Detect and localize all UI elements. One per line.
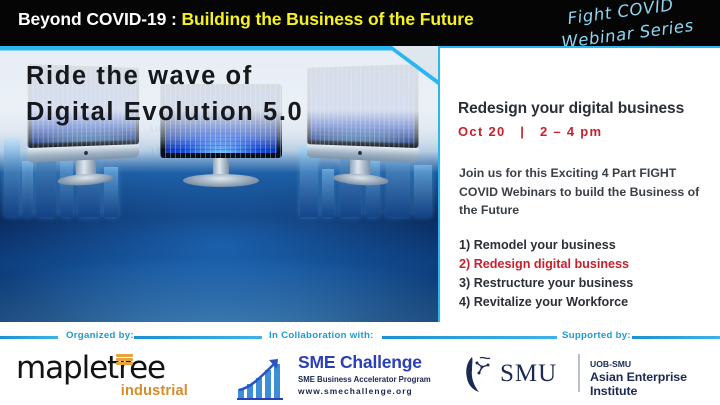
- divider-line: [134, 336, 262, 339]
- banner-title-white: Beyond COVID-19 :: [18, 9, 182, 29]
- smu-institute-block: UOB-SMU Asian Enterprise Institute: [590, 359, 710, 398]
- session-item-3: 3) Restructure your business: [459, 274, 714, 293]
- label-organized-by: Organized by:: [66, 330, 134, 341]
- headline-line-1: Ride the wave of: [26, 58, 426, 94]
- hero-headline: Ride the wave of Digital Evolution 5.0: [26, 58, 426, 130]
- divider-line: [0, 336, 58, 339]
- divider-line: [632, 336, 720, 339]
- monitor-right-indicator: [358, 151, 362, 155]
- skyline-building: [22, 161, 33, 217]
- smu-institute-line-1: UOB-SMU: [590, 359, 710, 369]
- partner-strip: Organized by: In Collaboration with: Sup…: [0, 322, 720, 405]
- divider-line: [382, 336, 557, 339]
- session-title: Redesign your digital business: [458, 100, 710, 118]
- session-item-1: 1) Remodel your business: [459, 236, 714, 255]
- mapletree-wordmark: mapletree: [16, 350, 206, 386]
- session-date: Oct 20: [458, 124, 506, 139]
- sme-website-url: www.smechallenge.org: [298, 386, 443, 396]
- session-blurb: Join us for this Exciting 4 Part FIGHT C…: [459, 164, 711, 220]
- webinar-poster: Beyond COVID-19 : Building the Business …: [0, 0, 720, 405]
- headline-line-2: Digital Evolution 5.0: [26, 94, 426, 130]
- banner-title: Beyond COVID-19 : Building the Business …: [18, 9, 474, 30]
- mapletree-logo: mapletree industrial: [16, 350, 206, 399]
- session-item-4: 4) Revitalize your Workforce: [459, 293, 714, 312]
- monitor-center-base: [183, 174, 259, 187]
- sme-text-block: SME Challenge SME Business Accelerator P…: [298, 352, 443, 396]
- hero-artwork: 10110100101110100101 011011010010110101 …: [0, 46, 438, 322]
- smu-institute-line-2: Asian Enterprise Institute: [590, 370, 710, 398]
- smu-divider: [578, 354, 580, 392]
- webinar-series-badge: Fight COVID Webinar Series: [525, 0, 720, 46]
- monitor-left-indicator: [84, 151, 88, 155]
- sme-tagline: SME Business Accelerator Program: [298, 375, 443, 384]
- sme-name: SME Challenge: [298, 352, 443, 373]
- session-list: 1) Remodel your business 2) Redesign dig…: [459, 236, 714, 313]
- session-time: 2 – 4 pm: [540, 124, 602, 139]
- smu-emblem-icon: [460, 354, 498, 394]
- partner-divider-row: Organized by: In Collaboration with: Sup…: [0, 330, 720, 344]
- session-datetime: Oct 20 | 2 – 4 pm: [458, 124, 602, 139]
- datetime-separator: |: [520, 124, 525, 139]
- label-supported-by: Supported by:: [562, 330, 631, 341]
- session-item-2: 2) Redesign digital business: [459, 255, 714, 274]
- label-collaboration-with: In Collaboration with:: [269, 330, 374, 341]
- skyline-building: [4, 139, 20, 217]
- mapletree-mark-icon: [116, 354, 133, 363]
- skyline-building: [60, 155, 73, 217]
- growth-chart-icon: [236, 356, 292, 400]
- banner-title-yellow: Building the Business of the Future: [182, 9, 474, 29]
- details-panel: Redesign your digital business Oct 20 | …: [438, 46, 720, 322]
- top-banner: Beyond COVID-19 : Building the Business …: [0, 0, 720, 46]
- smu-wordmark: SMU: [500, 360, 557, 388]
